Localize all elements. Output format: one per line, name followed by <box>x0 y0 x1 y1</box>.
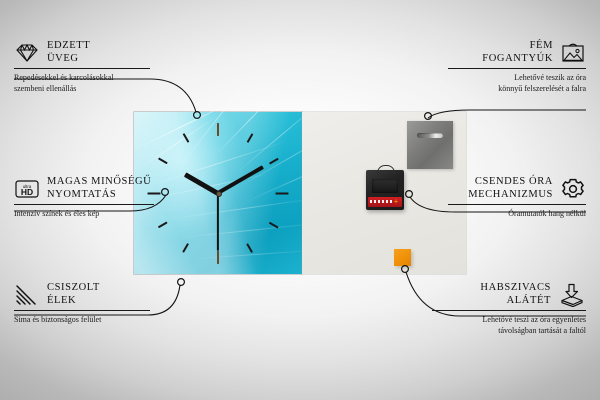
hour-marker <box>247 133 253 142</box>
callout-silent-mechanism: CSENDES ÓRA MECHANIZMUS Óramutatók hang … <box>448 176 586 220</box>
callout-metal-handles: FÉM FOGANTYÚK Lehetővé teszik az óra kön… <box>448 40 586 94</box>
hour-marker <box>217 123 219 136</box>
callout-title: FÉM FOGANTYÚK <box>482 40 553 65</box>
connector-dot-polished-edges <box>178 279 185 286</box>
callout-divider <box>448 204 586 205</box>
callout-polished-edges: CSISZOLT ÉLEK Sima és biztonságos felüle… <box>14 282 150 326</box>
battery-label <box>370 200 392 203</box>
hour-marker <box>158 222 167 228</box>
callout-title: HABSZIVACS ALÁTÉT <box>480 282 551 307</box>
hanger-slot <box>417 133 443 138</box>
callout-title: CSISZOLT ÉLEK <box>47 282 100 307</box>
callout-header: HABSZIVACS ALÁTÉT <box>432 282 586 307</box>
hour-marker <box>276 192 289 194</box>
metal-hanger-plate <box>407 121 453 169</box>
callout-tempered-glass: EDZETT ÜVEG Repedésekkel és karcolásokka… <box>14 40 150 94</box>
feather-streak <box>190 249 320 259</box>
callout-header: CSISZOLT ÉLEK <box>14 282 150 307</box>
callout-divider <box>448 68 586 69</box>
callout-header: FÉM FOGANTYÚK <box>448 40 586 65</box>
callout-description: Lehetővé teszik az óra könnyű felszerelé… <box>448 73 586 94</box>
feather-streak <box>212 79 289 159</box>
battery-plus-terminal: + <box>393 199 399 205</box>
mechanism-hanger-loop <box>377 165 395 174</box>
second-hand <box>217 193 219 251</box>
callout-header: ultra HD MAGAS MINŐSÉGŰ NYOMTATÁS <box>14 176 154 201</box>
callout-description: Sima és biztonságos felület <box>14 315 150 326</box>
battery: + <box>368 197 402 207</box>
callout-description: Repedésekkel és karcolásokkal szembeni e… <box>14 73 150 94</box>
foam-pad-icon <box>558 283 586 307</box>
polished-edges-icon <box>14 284 40 306</box>
hour-marker <box>247 244 253 253</box>
picture-frame-icon <box>560 42 586 64</box>
callout-divider <box>432 310 586 311</box>
callout-divider <box>14 204 154 205</box>
hour-marker <box>217 251 219 264</box>
callout-foam-pad: HABSZIVACS ALÁTÉT Lehetővé teszi az óra … <box>432 282 586 336</box>
feather-streak <box>165 197 324 220</box>
hour-marker <box>158 158 167 164</box>
mechanism-housing <box>372 179 398 193</box>
callout-description: Óramutatók hang nélkül <box>448 209 586 220</box>
foam-spacer-pad <box>394 249 411 266</box>
callout-title: CSENDES ÓRA MECHANIZMUS <box>468 176 553 201</box>
ultra-hd-icon-bottom-label: HD <box>21 187 33 197</box>
callout-divider <box>14 68 150 69</box>
callout-divider <box>14 310 150 311</box>
callout-description: Lehetővé teszi az óra egyenletes távolsá… <box>432 315 586 336</box>
callout-description: Intenzív színek és éles kép <box>14 209 154 220</box>
quartz-mechanism: + <box>366 170 404 210</box>
feather-streak <box>132 98 240 152</box>
ultra-hd-icon: ultra HD <box>14 178 40 200</box>
callout-high-quality-print: ultra HD MAGAS MINŐSÉGŰ NYOMTATÁS Intenz… <box>14 176 154 220</box>
clock-front-face <box>134 112 302 274</box>
hour-hand <box>184 172 219 195</box>
diamond-icon <box>14 42 40 64</box>
infographic-canvas: + <box>0 0 600 400</box>
callout-title: EDZETT ÜVEG <box>47 40 90 65</box>
hour-marker <box>183 244 189 253</box>
center-pin <box>216 191 222 197</box>
callout-header: EDZETT ÜVEG <box>14 40 150 65</box>
callout-header: CSENDES ÓRA MECHANIZMUS <box>448 176 586 201</box>
gear-icon <box>560 177 586 201</box>
callout-title: MAGAS MINŐSÉGŰ NYOMTATÁS <box>47 176 151 201</box>
